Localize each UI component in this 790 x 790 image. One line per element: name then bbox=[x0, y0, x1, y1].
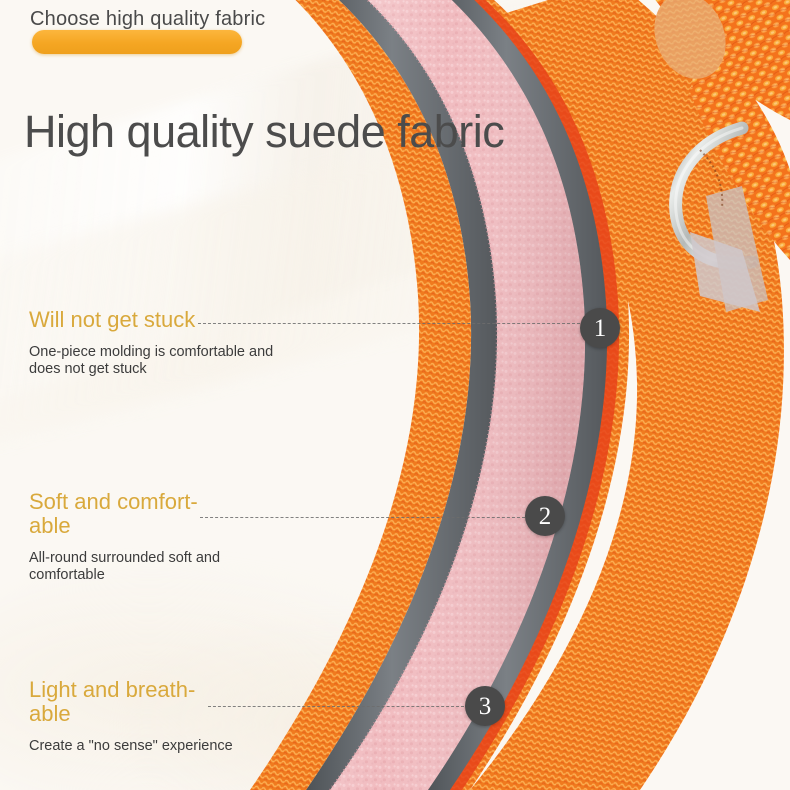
feature-title-2: Soft and comfort-able bbox=[29, 490, 207, 538]
infographic-page: Choose high quality fabric High quality … bbox=[0, 0, 790, 790]
leader-line-3 bbox=[208, 706, 464, 707]
background-watermark-swoosh-2 bbox=[0, 105, 610, 476]
marker-1: 1 bbox=[580, 308, 620, 348]
gray-fabric-patch bbox=[690, 232, 760, 312]
marker-3: 3 bbox=[465, 686, 505, 726]
webbing-strap-top bbox=[640, 0, 790, 120]
feature-desc-1: One-piece molding is comfortable and doe… bbox=[29, 344, 279, 378]
background-watermark-glow-1 bbox=[0, 560, 460, 790]
feature-title-3: Light and breath-able bbox=[29, 678, 207, 726]
metal-d-ring bbox=[676, 128, 752, 263]
page-title: High quality suede fabric bbox=[24, 106, 504, 158]
feature-title-1: Will not get stuck bbox=[29, 308, 207, 332]
feature-block-2: Soft and comfort-able All-round surround… bbox=[29, 490, 279, 584]
feature-block-1: Will not get stuck One-piece molding is … bbox=[29, 308, 279, 378]
stitching-detail bbox=[700, 150, 722, 208]
marker-2: 2 bbox=[525, 496, 565, 536]
leader-line-2 bbox=[200, 517, 525, 518]
webbing-strap-descending bbox=[690, 40, 790, 260]
eyebrow-text: Choose high quality fabric bbox=[30, 8, 265, 31]
webbing-strap-tab bbox=[642, 0, 738, 90]
feature-block-3: Light and breath-able Create a "no sense… bbox=[29, 678, 279, 755]
accent-pill-bar bbox=[32, 30, 242, 54]
feature-desc-3: Create a "no sense" experience bbox=[29, 738, 279, 755]
gray-webbing-loop bbox=[706, 186, 768, 312]
leader-line-1 bbox=[198, 323, 580, 324]
feature-desc-2: All-round surrounded soft and comfortabl… bbox=[29, 550, 279, 584]
